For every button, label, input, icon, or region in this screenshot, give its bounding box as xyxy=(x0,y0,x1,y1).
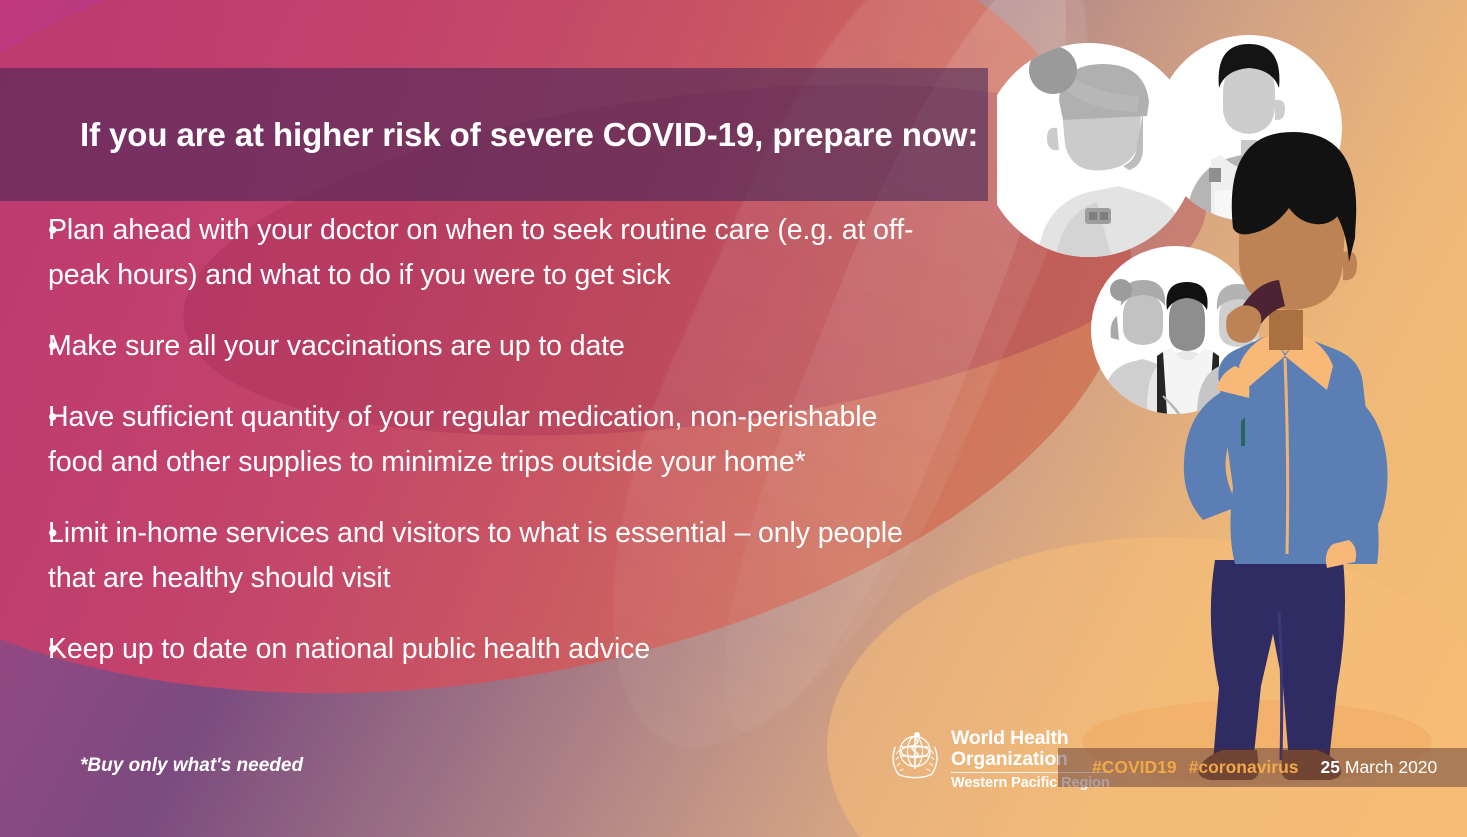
list-item: • Have sufficient quantity of your regul… xyxy=(0,395,1000,485)
bullet-list: • Plan ahead with your doctor on when to… xyxy=(0,208,1000,698)
who-line1: World Health xyxy=(951,728,1110,749)
page-title: If you are at higher risk of severe COVI… xyxy=(0,113,978,157)
footnote: *Buy only what's needed xyxy=(80,755,303,777)
bullet-marker-icon: • xyxy=(0,511,48,556)
bullet-marker-icon: • xyxy=(0,324,48,369)
hashtag-covid19[interactable]: #COVID19 xyxy=(1092,757,1177,778)
list-item: • Plan ahead with your doctor on when to… xyxy=(0,208,1000,298)
who-emblem-icon xyxy=(886,726,944,784)
bullet-marker-icon: • xyxy=(0,395,48,440)
title-banner: If you are at higher risk of severe COVI… xyxy=(0,68,988,201)
bullet-text: Plan ahead with your doctor on when to s… xyxy=(48,208,918,298)
bullet-marker-icon: • xyxy=(0,627,48,672)
illustration-group xyxy=(997,0,1467,837)
bullet-text: Make sure all your vaccinations are up t… xyxy=(48,324,625,369)
publication-date: 25 March 2020 xyxy=(1321,757,1438,778)
list-item: • Make sure all your vaccinations are up… xyxy=(0,324,1000,369)
bullet-text: Limit in-home services and visitors to w… xyxy=(48,511,918,601)
hashtag-coronavirus[interactable]: #coronavirus xyxy=(1189,757,1299,778)
man-on-phone-illustration xyxy=(1184,132,1388,780)
date-month-year: March 2020 xyxy=(1340,757,1437,777)
list-item: • Limit in-home services and visitors to… xyxy=(0,511,1000,601)
bullet-marker-icon: • xyxy=(0,208,48,253)
bullet-text: Keep up to date on national public healt… xyxy=(48,627,650,672)
hashtag-date-bar: #COVID19 #coronavirus 25 March 2020 xyxy=(1058,748,1467,787)
poster-canvas: If you are at higher risk of severe COVI… xyxy=(0,0,1467,837)
date-day: 25 xyxy=(1321,757,1340,777)
bullet-text: Have sufficient quantity of your regular… xyxy=(48,395,918,485)
list-item: • Keep up to date on national public hea… xyxy=(0,627,1000,672)
